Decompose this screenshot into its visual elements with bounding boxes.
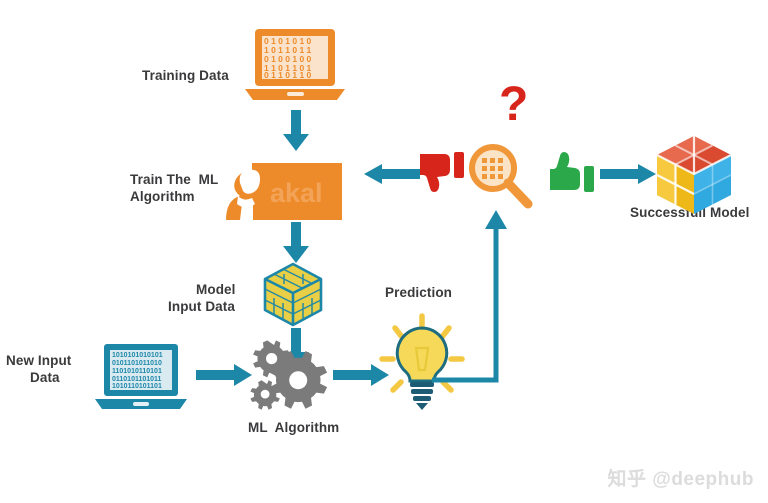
svg-text:1101010110101: 1101010110101	[112, 368, 162, 375]
blue-laptop-binary-icon: 1010101010101 0101101011010 110101011010…	[93, 342, 189, 414]
label-training-data: Training Data	[142, 68, 229, 84]
label-new-input-data-line1: New Input	[6, 353, 71, 369]
rubiks-cube-icon	[655, 134, 733, 216]
label-model-input-data-line2: Input Data	[168, 299, 235, 315]
question-mark-icon: ?	[494, 80, 538, 132]
arrow-train-to-model	[282, 222, 310, 264]
svg-text:1010110101101: 1010110101101	[112, 383, 162, 390]
label-new-input-data-line2: Data	[30, 370, 60, 386]
yellow-cube-icon	[262, 262, 324, 328]
diagram-canvas: Training Data Train The ML Algorithm Mod…	[0, 0, 768, 503]
svg-text:akal: akal	[270, 178, 323, 208]
thumbs-up-icon	[548, 152, 596, 196]
svg-text:0 1 1 0 1 1 0: 0 1 1 0 1 1 0	[264, 70, 312, 80]
thumbs-down-icon	[418, 150, 466, 194]
presenter-whiteboard-icon: akal	[216, 160, 344, 232]
label-ml-algorithm: ML Algorithm	[248, 420, 339, 436]
svg-text:0101101011010: 0101101011010	[112, 360, 162, 367]
magnifier-icon	[464, 140, 536, 212]
arrow-training-to-train	[282, 110, 310, 152]
orange-laptop-binary-icon: 0 1 0 1 0 1 0 1 0 1 1 0 1 1 0 1 0 0 1 0 …	[243, 27, 347, 107]
watermark: 知乎 @deephub	[608, 464, 754, 491]
svg-text:1010101010101: 1010101010101	[112, 352, 163, 359]
arrow-evaluation-to-train	[364, 164, 420, 184]
svg-text:?: ?	[499, 78, 528, 131]
label-model-input-data-line1: Model	[196, 282, 236, 298]
gears-icon	[253, 340, 329, 414]
arrow-prediction-to-evaluation	[432, 208, 522, 386]
arrow-newinput-to-gears	[196, 364, 254, 386]
arrow-evaluation-to-model	[600, 164, 656, 184]
label-train-ml-algorithm-line1: Train The ML	[130, 172, 218, 188]
svg-text:0110101101011: 0110101101011	[112, 376, 162, 383]
label-train-ml-algorithm-line2: Algorithm	[130, 189, 195, 205]
